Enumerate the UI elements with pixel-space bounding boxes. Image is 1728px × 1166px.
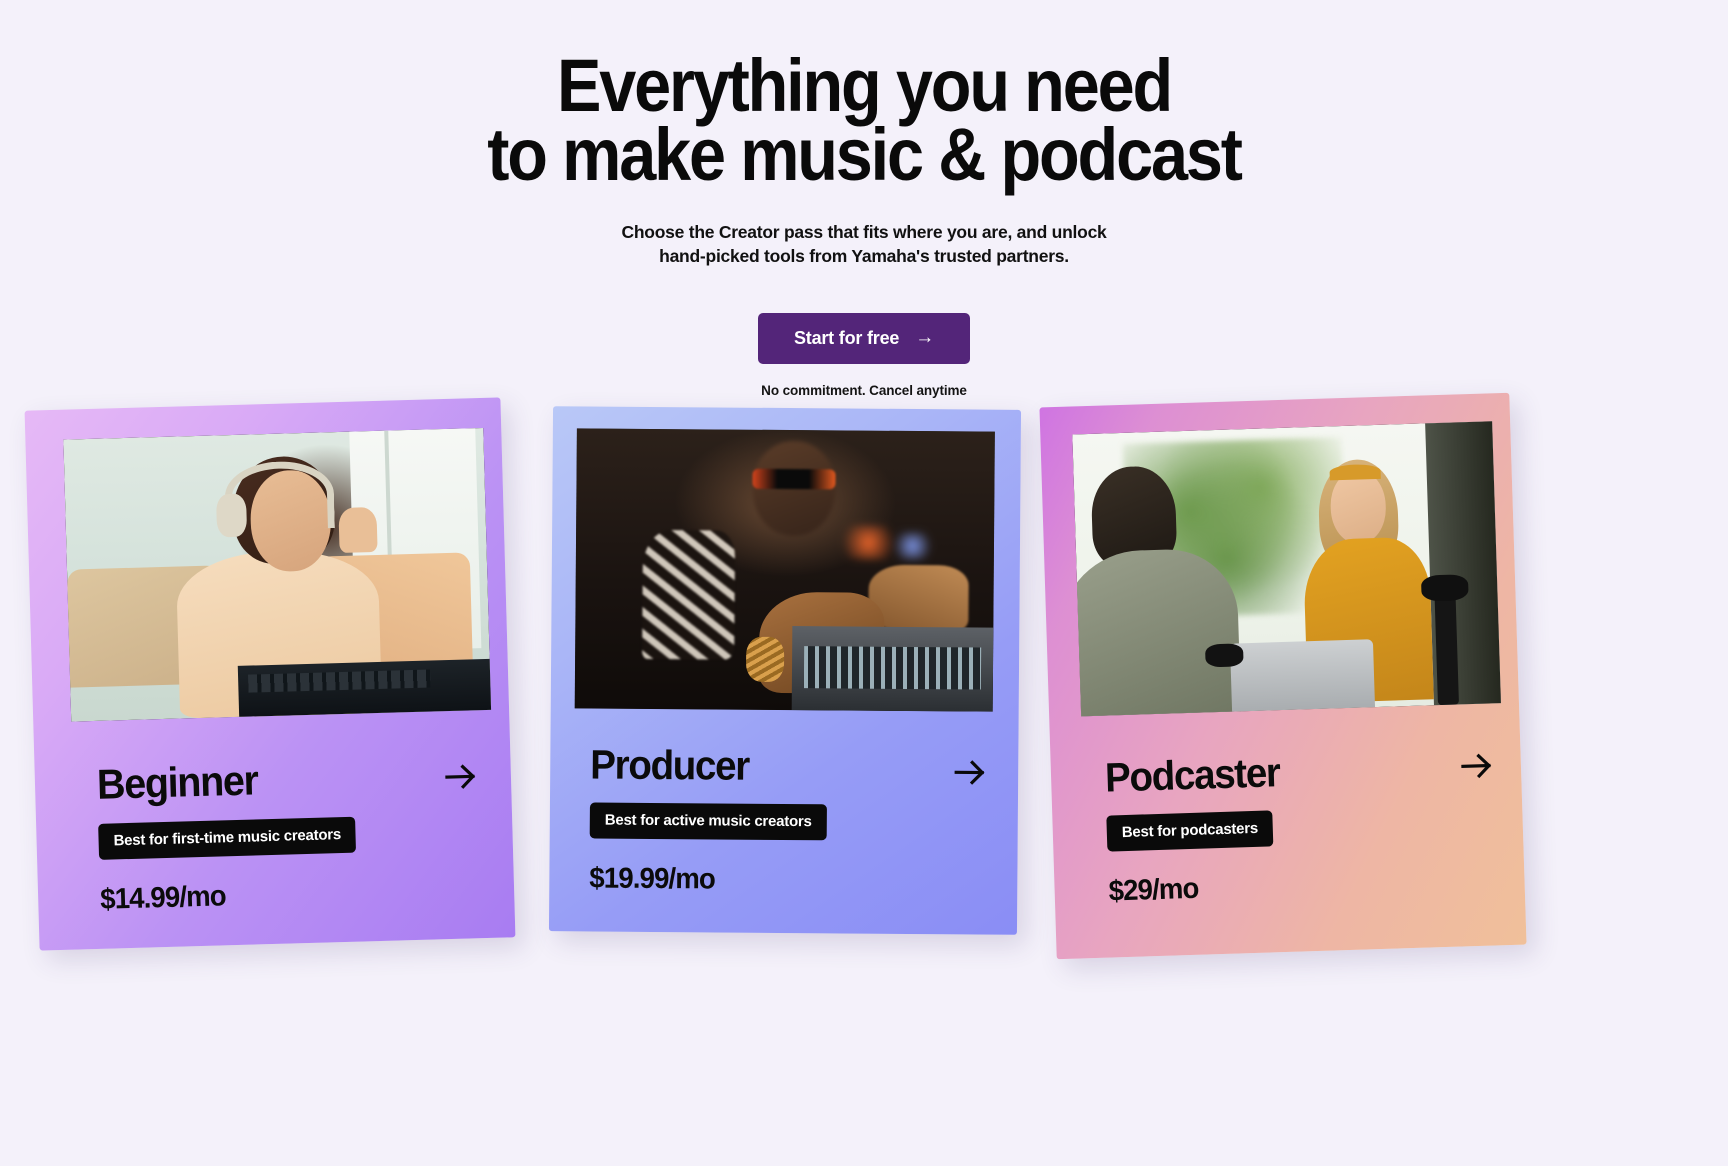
page-subtitle: Choose the Creator pass that fits where … bbox=[0, 220, 1728, 270]
pricing-card-podcaster[interactable]: Podcaster Best for podcasters $29/mo bbox=[1039, 393, 1526, 959]
page-title: Everything you need to make music & podc… bbox=[86, 52, 1641, 190]
cta-disclaimer: No commitment. Cancel anytime bbox=[761, 383, 967, 398]
card-title-beginner: Beginner bbox=[96, 754, 458, 806]
card-badge-beginner: Best for first-time music creators bbox=[98, 817, 356, 860]
card-photo-producer bbox=[575, 428, 995, 711]
card-title-producer: Producer bbox=[590, 744, 966, 788]
card-price-podcaster: $29/mo bbox=[1108, 866, 1477, 907]
start-for-free-button[interactable]: Start for free → bbox=[758, 313, 970, 364]
start-for-free-label: Start for free bbox=[794, 328, 899, 349]
card-title-podcaster: Podcaster bbox=[1104, 746, 1470, 798]
pricing-card-producer[interactable]: Producer Best for active music creators … bbox=[549, 406, 1021, 935]
arrow-right-icon[interactable] bbox=[1456, 745, 1497, 786]
cta-group: Start for free → No commitment. Cancel a… bbox=[0, 313, 1728, 398]
card-body-producer: Producer Best for active music creators … bbox=[589, 744, 990, 896]
pricing-cards: Beginner Best for first-time music creat… bbox=[0, 398, 1728, 978]
card-badge-producer: Best for active music creators bbox=[590, 802, 827, 840]
card-photo-beginner bbox=[63, 428, 491, 722]
card-badge-podcaster: Best for podcasters bbox=[1106, 810, 1273, 851]
card-body-beginner: Beginner Best for first-time music creat… bbox=[96, 753, 484, 915]
subtitle-line-2: hand-picked tools from Yamaha's trusted … bbox=[0, 244, 1728, 269]
headline-line-2: to make music & podcast bbox=[86, 121, 1641, 190]
card-price-producer: $19.99/mo bbox=[589, 864, 969, 896]
arrow-right-icon[interactable] bbox=[440, 756, 481, 797]
card-price-beginner: $14.99/mo bbox=[100, 876, 465, 915]
arrow-right-icon: → bbox=[915, 328, 934, 347]
subtitle-line-1: Choose the Creator pass that fits where … bbox=[621, 222, 1106, 242]
hero-section: Everything you need to make music & podc… bbox=[0, 0, 1728, 398]
pricing-card-beginner[interactable]: Beginner Best for first-time music creat… bbox=[25, 397, 516, 950]
card-photo-podcaster bbox=[1072, 421, 1501, 716]
card-body-podcaster: Podcaster Best for podcasters $29/mo bbox=[1104, 745, 1496, 906]
arrow-right-icon[interactable] bbox=[950, 752, 990, 792]
